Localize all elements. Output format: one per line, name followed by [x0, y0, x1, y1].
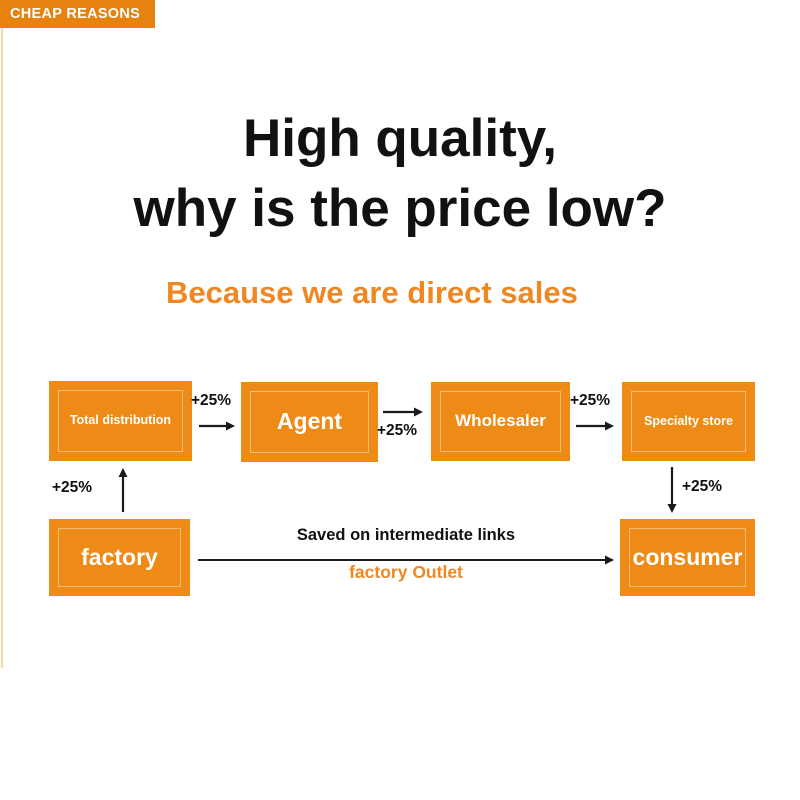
arrow-down-icon — [666, 467, 678, 513]
node-factory-label: factory — [81, 545, 158, 570]
connector-markup-label: +25% — [52, 479, 92, 497]
node-consumer-label: consumer — [633, 545, 743, 570]
arrow-right-icon — [199, 420, 235, 432]
direct-channel-bottom-label: factory Outlet — [190, 562, 622, 583]
connector-factory-to-consumer-direct: Saved on intermediate links factory Outl… — [190, 520, 622, 596]
node-specialty-store[interactable]: Specialty store — [622, 382, 755, 461]
direct-channel-top-label: Saved on intermediate links — [190, 526, 622, 545]
connector-markup-label: +25% — [377, 422, 417, 440]
arrow-right-icon — [576, 420, 614, 432]
connector-factory-to-total-distribution: +25% — [52, 466, 152, 518]
node-total-distribution[interactable]: Total distribution — [49, 381, 192, 461]
distribution-flow-diagram: Total distribution Agent Wholesaler Spec… — [0, 0, 800, 800]
connector-specialty-store-to-consumer: +25% — [664, 465, 774, 519]
node-wholesaler-label: Wholesaler — [455, 412, 546, 431]
node-consumer[interactable]: consumer — [620, 519, 755, 596]
arrow-up-icon — [117, 468, 129, 512]
connector-wholesaler-to-specialty-store: +25% — [570, 392, 622, 452]
node-specialty-store-label: Specialty store — [644, 415, 733, 429]
slide-canvas: CHEAP REASONS High quality, why is the p… — [0, 0, 800, 800]
node-factory[interactable]: factory — [49, 519, 190, 596]
connector-markup-label: +25% — [682, 478, 722, 496]
node-wholesaler[interactable]: Wholesaler — [431, 382, 570, 461]
connector-agent-to-wholesaler: +25% — [378, 402, 431, 462]
connector-markup-label: +25% — [570, 392, 610, 410]
connector-markup-label: +25% — [191, 392, 231, 410]
node-agent[interactable]: Agent — [241, 382, 378, 462]
connector-total-distribution-to-agent: +25% — [192, 392, 241, 452]
node-total-distribution-label: Total distribution — [70, 414, 171, 428]
node-agent-label: Agent — [277, 409, 342, 434]
arrow-right-icon — [383, 406, 423, 418]
